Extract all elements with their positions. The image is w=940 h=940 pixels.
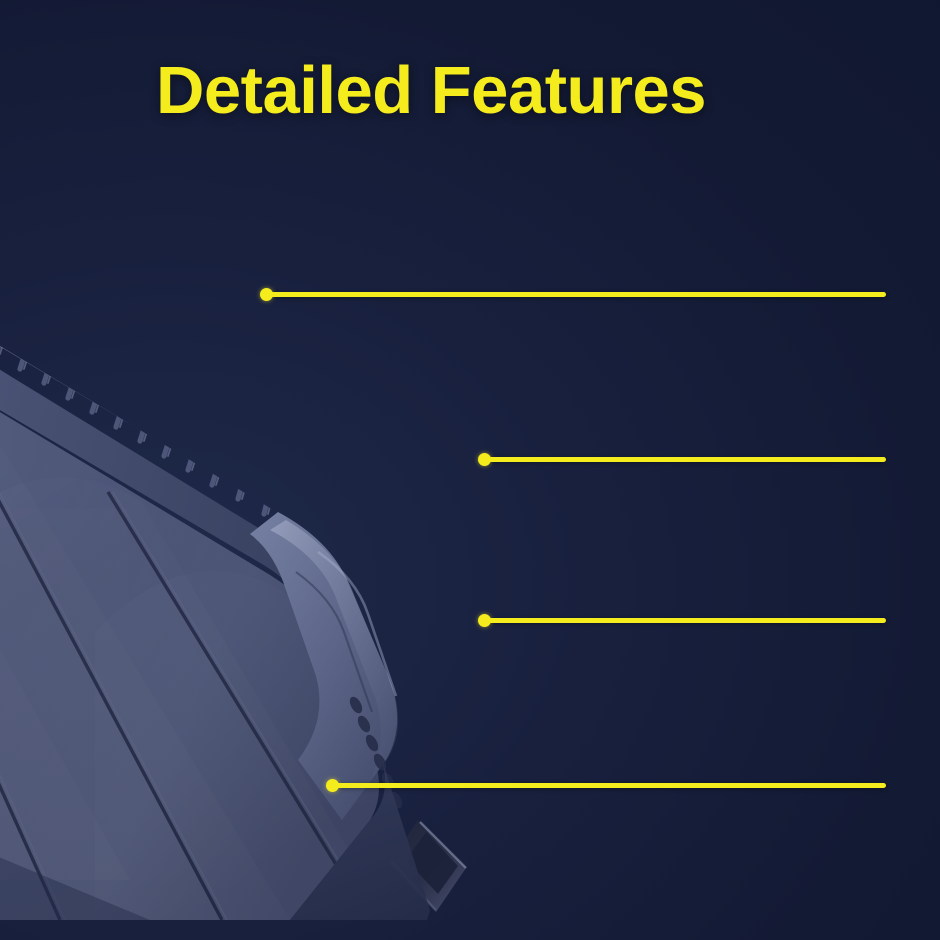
- infographic-canvas: Detailed Features Superior Grip Raised S…: [0, 0, 940, 940]
- callout-line-sf-coating: [332, 783, 886, 788]
- callout-dot-raised-side-edges: [478, 453, 491, 466]
- page-title: Detailed Features: [156, 57, 706, 124]
- port-cutout: [388, 820, 466, 912]
- phone-case-illustration: [0, 120, 590, 920]
- callout-dot-superior-grip: [260, 288, 273, 301]
- callout-line-perfect-cut-outs: [484, 618, 886, 623]
- callout-dot-sf-coating: [326, 779, 339, 792]
- callout-dot-perfect-cut-outs: [478, 614, 491, 627]
- callout-line-superior-grip: [266, 292, 886, 297]
- callout-line-raised-side-edges: [484, 457, 886, 462]
